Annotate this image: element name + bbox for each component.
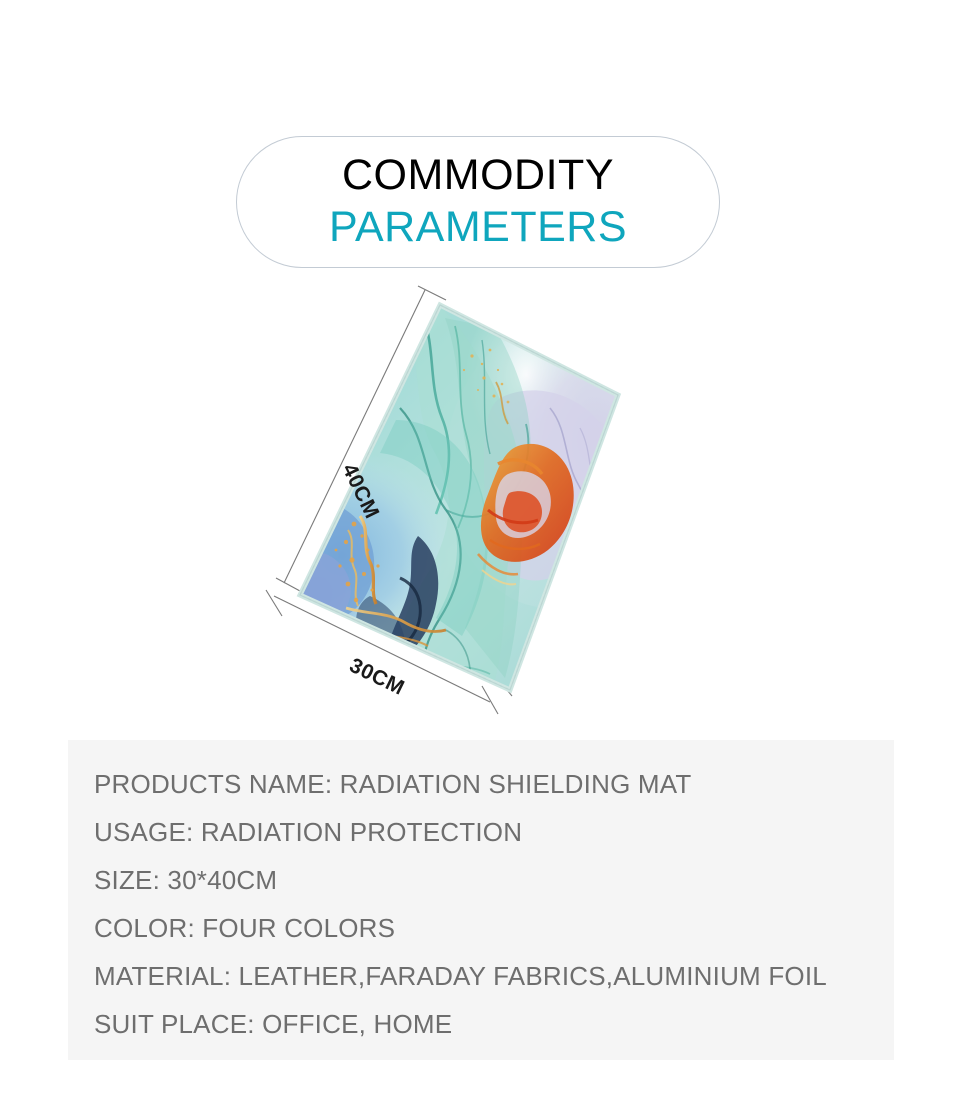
dimension-tick-height-bottom — [276, 578, 300, 591]
banner-title-line1: COMMODITY — [342, 150, 614, 200]
specifications-panel: PRODUCTS NAME: RADIATION SHIELDING MAT U… — [68, 740, 894, 1060]
spec-item-products-name: PRODUCTS NAME: RADIATION SHIELDING MAT — [94, 760, 894, 808]
commodity-parameters-banner: COMMODITY PARAMETERS — [236, 136, 720, 268]
product-image-with-dimensions: 40CM 30CM — [250, 278, 680, 723]
spec-item-material: MATERIAL: LEATHER,FARADAY FABRICS,ALUMIN… — [94, 952, 894, 1000]
dimension-tick-height-top — [418, 286, 446, 300]
product-mat — [250, 278, 680, 723]
spec-item-suit-place: SUIT PLACE: OFFICE, HOME — [94, 1000, 894, 1048]
banner-title-line2: PARAMETERS — [329, 200, 627, 254]
dimension-tick-width-right — [482, 686, 498, 714]
dimension-tick-width-left — [266, 590, 282, 616]
spec-item-size: SIZE: 30*40CM — [94, 856, 894, 904]
spec-item-usage: USAGE: RADIATION PROTECTION — [94, 808, 894, 856]
dimension-label-width: 30CM — [346, 654, 408, 700]
specifications-list: PRODUCTS NAME: RADIATION SHIELDING MAT U… — [94, 760, 894, 1048]
spec-item-color: COLOR: FOUR COLORS — [94, 904, 894, 952]
